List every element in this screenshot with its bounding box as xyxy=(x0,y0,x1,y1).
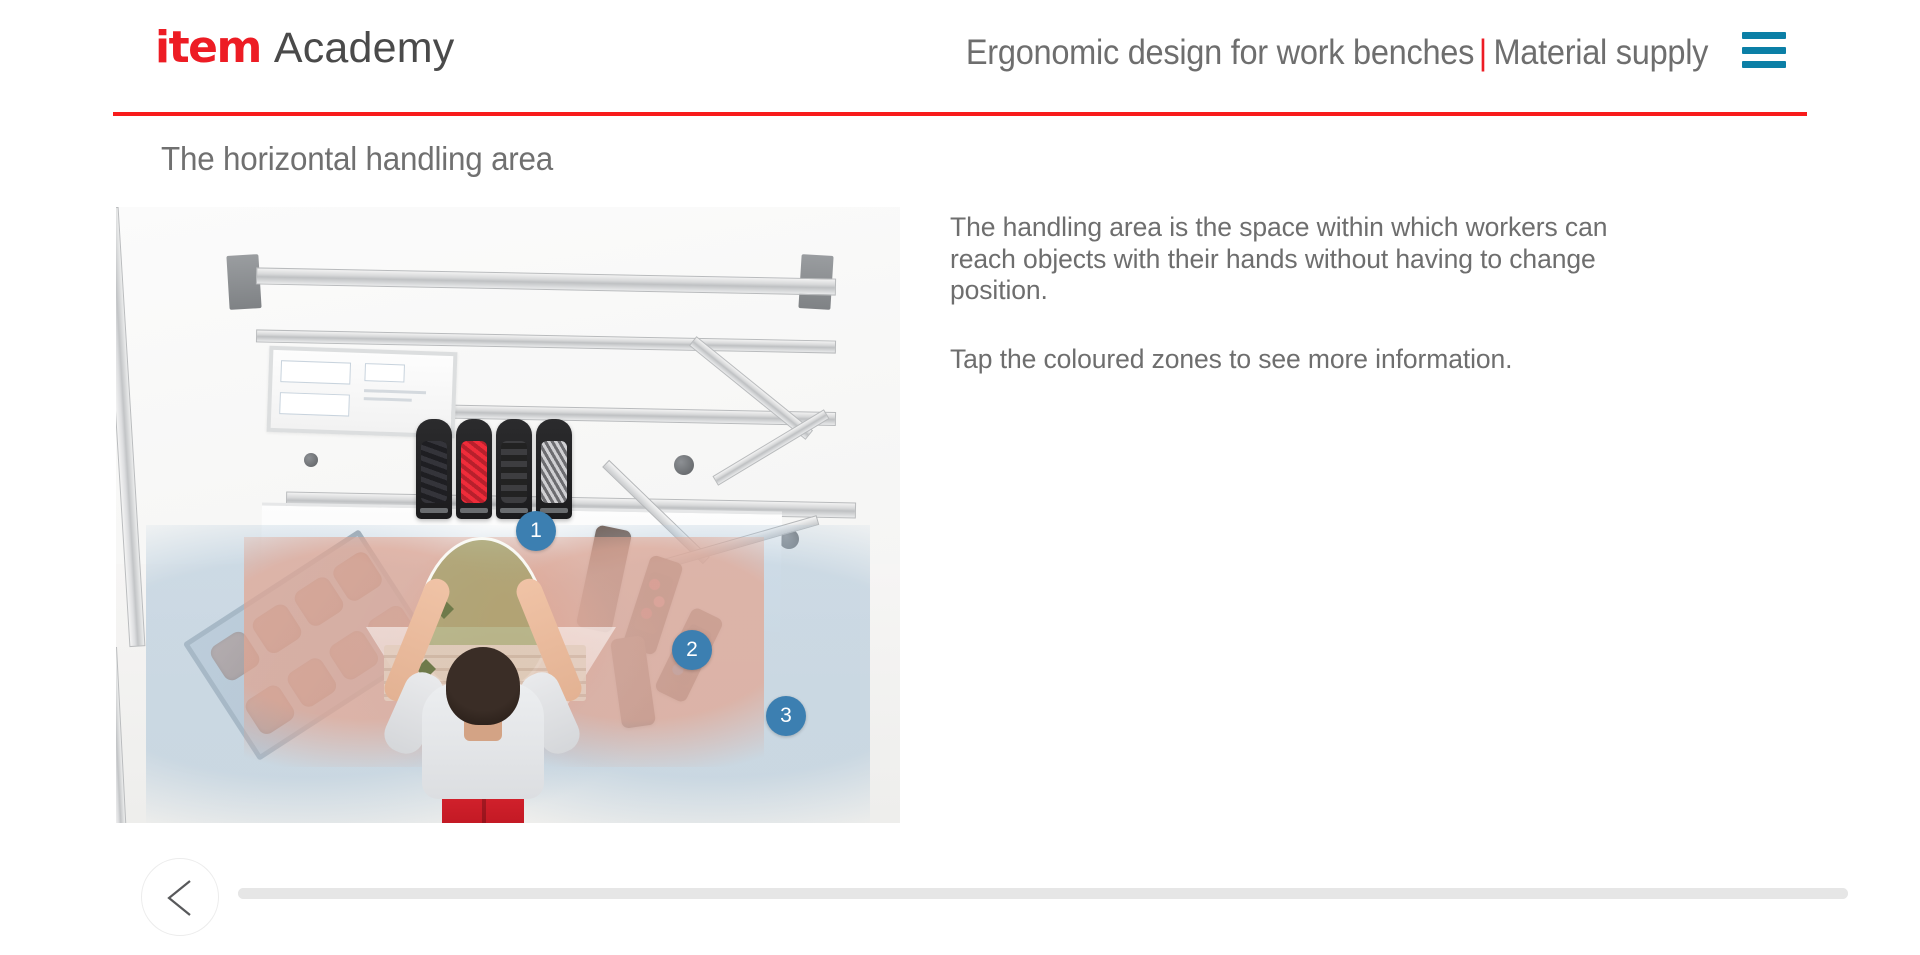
technical-drawing-1 xyxy=(280,360,351,384)
worker-leg-gap xyxy=(482,799,486,823)
previous-slide-button[interactable] xyxy=(141,858,219,936)
description-column: The handling area is the space within wh… xyxy=(950,212,1650,375)
menu-bar-bottom xyxy=(1742,61,1786,68)
course-title: Ergonomic design for work benches|Materi… xyxy=(966,33,1708,73)
zone-marker-3[interactable]: 3 xyxy=(766,696,806,736)
zone-marker-1-label: 1 xyxy=(530,519,542,543)
page-title: The horizontal handling area xyxy=(161,140,553,178)
parts-bin-3-contents xyxy=(501,441,527,503)
worker-figure xyxy=(388,627,578,823)
arm-joint-1 xyxy=(674,455,694,475)
slide-progress-fill xyxy=(238,888,1848,899)
brand-product-name: Academy xyxy=(274,24,455,73)
parts-bin-2 xyxy=(456,419,492,519)
gantry-rail-top xyxy=(256,267,836,295)
menu-bar-middle xyxy=(1742,47,1786,54)
parts-bin-1-lip xyxy=(420,508,448,513)
zone-marker-1[interactable]: 1 xyxy=(516,511,556,551)
app-header: item Academy Ergonomic design for work b… xyxy=(0,0,1920,118)
course-title-part-1: Ergonomic design for work benches xyxy=(966,33,1474,72)
drawing-text-line-1 xyxy=(364,389,426,394)
description-paragraph-2: Tap the coloured zones to see more infor… xyxy=(950,344,1650,376)
menu-bar-top xyxy=(1742,32,1786,39)
arm-joint-3 xyxy=(304,453,318,467)
zone-marker-2-label: 2 xyxy=(686,638,698,662)
parts-bin-4-contents xyxy=(541,441,567,503)
zone-marker-3-label: 3 xyxy=(780,704,792,728)
parts-bin-3 xyxy=(496,419,532,519)
zone-marker-2[interactable]: 2 xyxy=(672,630,712,670)
brand-logo[interactable]: item Academy xyxy=(155,22,454,73)
hamburger-menu-icon[interactable] xyxy=(1742,32,1786,68)
course-title-part-2: Material supply xyxy=(1493,33,1708,72)
parts-bin-1-contents xyxy=(421,441,447,503)
parts-bin-4 xyxy=(536,419,572,519)
slide-progress-bar[interactable] xyxy=(238,888,1848,899)
course-title-separator: | xyxy=(1479,33,1487,72)
technical-drawing-3 xyxy=(364,363,405,382)
parts-bin-2-contents xyxy=(461,441,487,503)
parts-bin-1 xyxy=(416,419,452,519)
parts-bin-2-lip xyxy=(460,508,488,513)
brand-name: item xyxy=(155,22,261,73)
technical-drawing-2 xyxy=(279,392,350,416)
header-accent-rule xyxy=(113,112,1807,116)
chevron-left-icon xyxy=(164,878,198,918)
description-paragraph-1: The handling area is the space within wh… xyxy=(950,212,1650,307)
drawing-text-line-2 xyxy=(364,397,412,402)
parts-bin-3-lip xyxy=(500,508,528,513)
worker-head xyxy=(446,647,520,725)
